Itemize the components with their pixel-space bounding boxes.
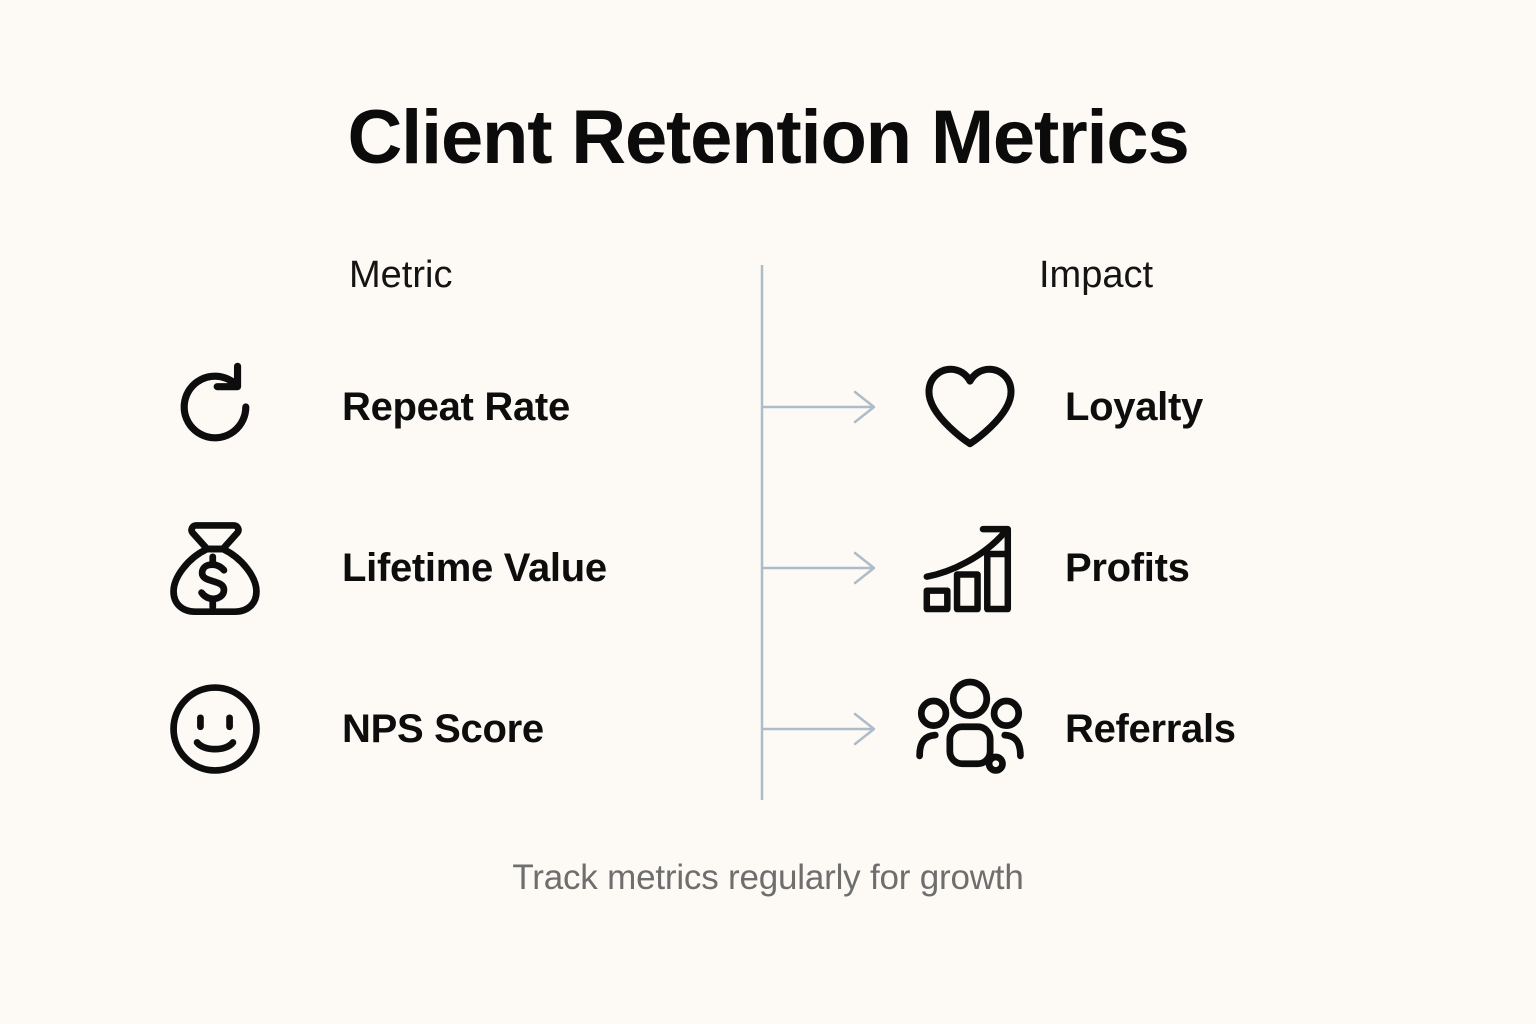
column-header-impact: Impact (1039, 253, 1153, 299)
smiley-face-icon (150, 664, 280, 794)
infographic-canvas: Client Retention Metrics Metric Impact (0, 0, 1536, 1024)
impact-label: Profits (1065, 544, 1190, 592)
growth-chart-icon (905, 503, 1035, 633)
heart-icon (905, 342, 1035, 472)
metric-row: NPS Score Referrals (0, 654, 1536, 804)
metric-cell: Repeat Rate (150, 332, 750, 482)
repeat-arrow-icon (150, 342, 280, 472)
column-header-metric: Metric (349, 253, 452, 299)
money-bag-icon (150, 503, 280, 633)
metric-cell: NPS Score (150, 654, 750, 804)
impact-cell: Profits (905, 493, 1425, 643)
metric-label: Lifetime Value (342, 544, 607, 592)
metric-label: Repeat Rate (342, 383, 570, 431)
metric-label: NPS Score (342, 705, 544, 753)
impact-cell: Loyalty (905, 332, 1425, 482)
footer-note: Track metrics regularly for growth (0, 858, 1536, 898)
impact-label: Referrals (1065, 705, 1236, 753)
impact-label: Loyalty (1065, 383, 1203, 431)
people-group-icon (905, 664, 1035, 794)
metric-row: Lifetime Value Profits (0, 493, 1536, 643)
metric-row: Repeat Rate Loyalty (0, 332, 1536, 482)
metric-cell: Lifetime Value (150, 493, 750, 643)
impact-cell: Referrals (905, 654, 1425, 804)
page-title: Client Retention Metrics (0, 98, 1536, 178)
